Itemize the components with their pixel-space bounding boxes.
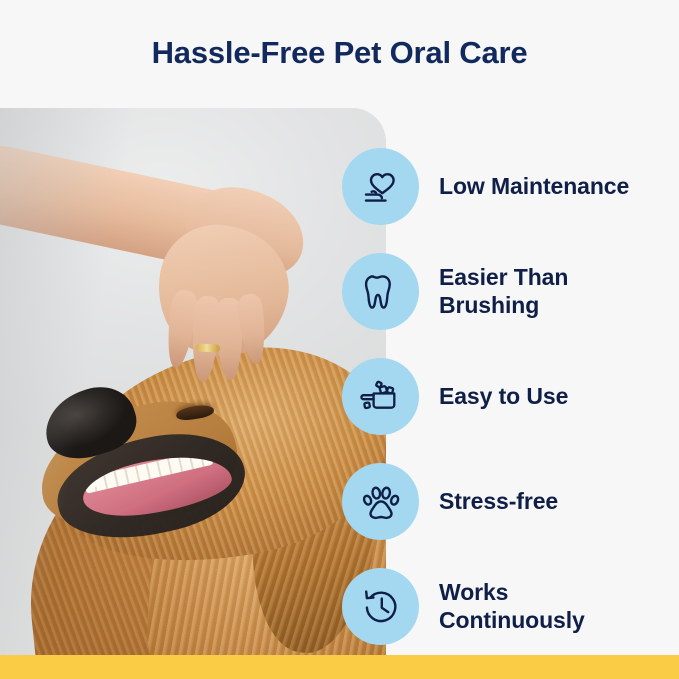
paw-print-icon <box>342 463 419 540</box>
feature-label: Easier Than Brushing <box>439 264 654 318</box>
feature-item-stress-free: Stress-free <box>342 449 679 554</box>
photo-vignette <box>0 108 386 655</box>
heart-breeze-icon <box>342 148 419 225</box>
page-title: Hassle-Free Pet Oral Care <box>0 34 679 71</box>
feature-list: Low Maintenance Easier Than Brushing <box>342 134 679 659</box>
feature-label: Low Maintenance <box>439 173 629 200</box>
scoop-granules-icon <box>342 358 419 435</box>
feature-label: Easy to Use <box>439 383 568 410</box>
feature-label: Works Continuously <box>439 579 654 633</box>
feature-item-low-maintenance: Low Maintenance <box>342 134 679 239</box>
product-photo <box>0 108 386 655</box>
feature-item-works-continuously: Works Continuously <box>342 554 679 659</box>
bottom-accent-bar <box>0 655 679 679</box>
infographic-card: Hassle-Free Pet Oral Care <box>0 0 679 679</box>
feature-item-easier-than-brushing: Easier Than Brushing <box>342 239 679 344</box>
clock-arrow-icon <box>342 568 419 645</box>
feature-label: Stress-free <box>439 488 558 515</box>
tooth-icon <box>342 253 419 330</box>
feature-item-easy-to-use: Easy to Use <box>342 344 679 449</box>
